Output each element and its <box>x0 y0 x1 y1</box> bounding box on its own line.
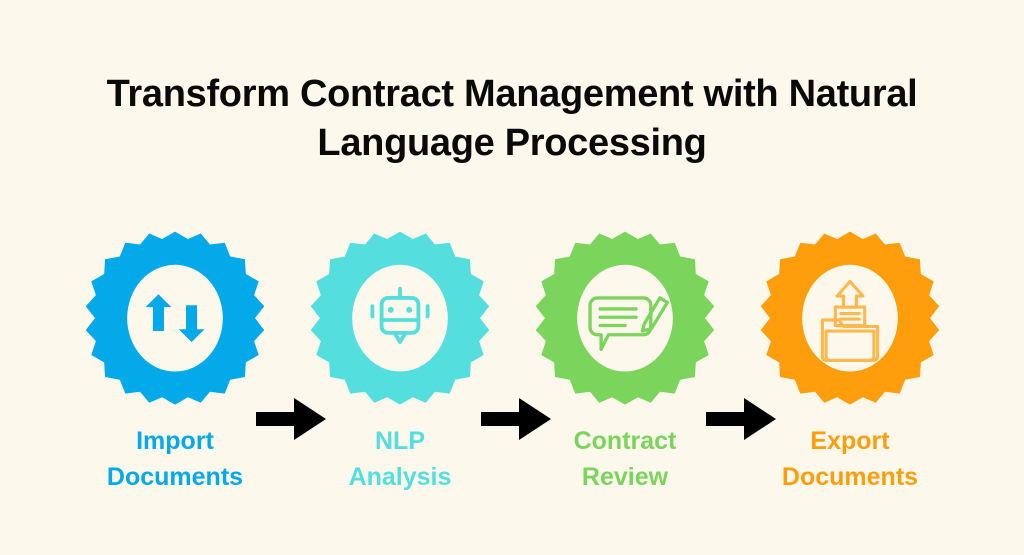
step-label-nlp-analysis: NLP Analysis <box>287 424 513 495</box>
gear-icon <box>758 228 942 412</box>
page-title-line-1: Transform Contract Management with Natur… <box>62 70 962 119</box>
gear-icon <box>533 228 717 412</box>
step-label-line-1: Export <box>737 424 963 460</box>
step-label-import-documents: Import Documents <box>62 424 288 495</box>
step-label-line-2: Review <box>512 460 738 496</box>
process-step-nlp-analysis[interactable]: NLP Analysis <box>287 228 513 528</box>
step-label-line-2: Documents <box>737 460 963 496</box>
gear-icon <box>83 228 267 412</box>
process-step-import-documents[interactable]: Import Documents <box>62 228 288 528</box>
step-label-line-1: Contract <box>512 424 738 460</box>
step-label-export-documents: Export Documents <box>737 424 963 495</box>
infographic-canvas: Transform Contract Management with Natur… <box>0 0 1024 555</box>
step-label-contract-review: Contract Review <box>512 424 738 495</box>
page-title-line-2: Language Processing <box>62 119 962 168</box>
process-step-contract-review[interactable]: Contract Review <box>512 228 738 528</box>
gear-icon <box>308 228 492 412</box>
step-label-line-2: Documents <box>62 460 288 496</box>
process-steps-row: Import Documents <box>0 228 1024 528</box>
step-label-line-1: Import <box>62 424 288 460</box>
page-title: Transform Contract Management with Natur… <box>62 70 962 167</box>
step-label-line-1: NLP <box>287 424 513 460</box>
step-label-line-2: Analysis <box>287 460 513 496</box>
process-step-export-documents[interactable]: Export Documents <box>737 228 963 528</box>
